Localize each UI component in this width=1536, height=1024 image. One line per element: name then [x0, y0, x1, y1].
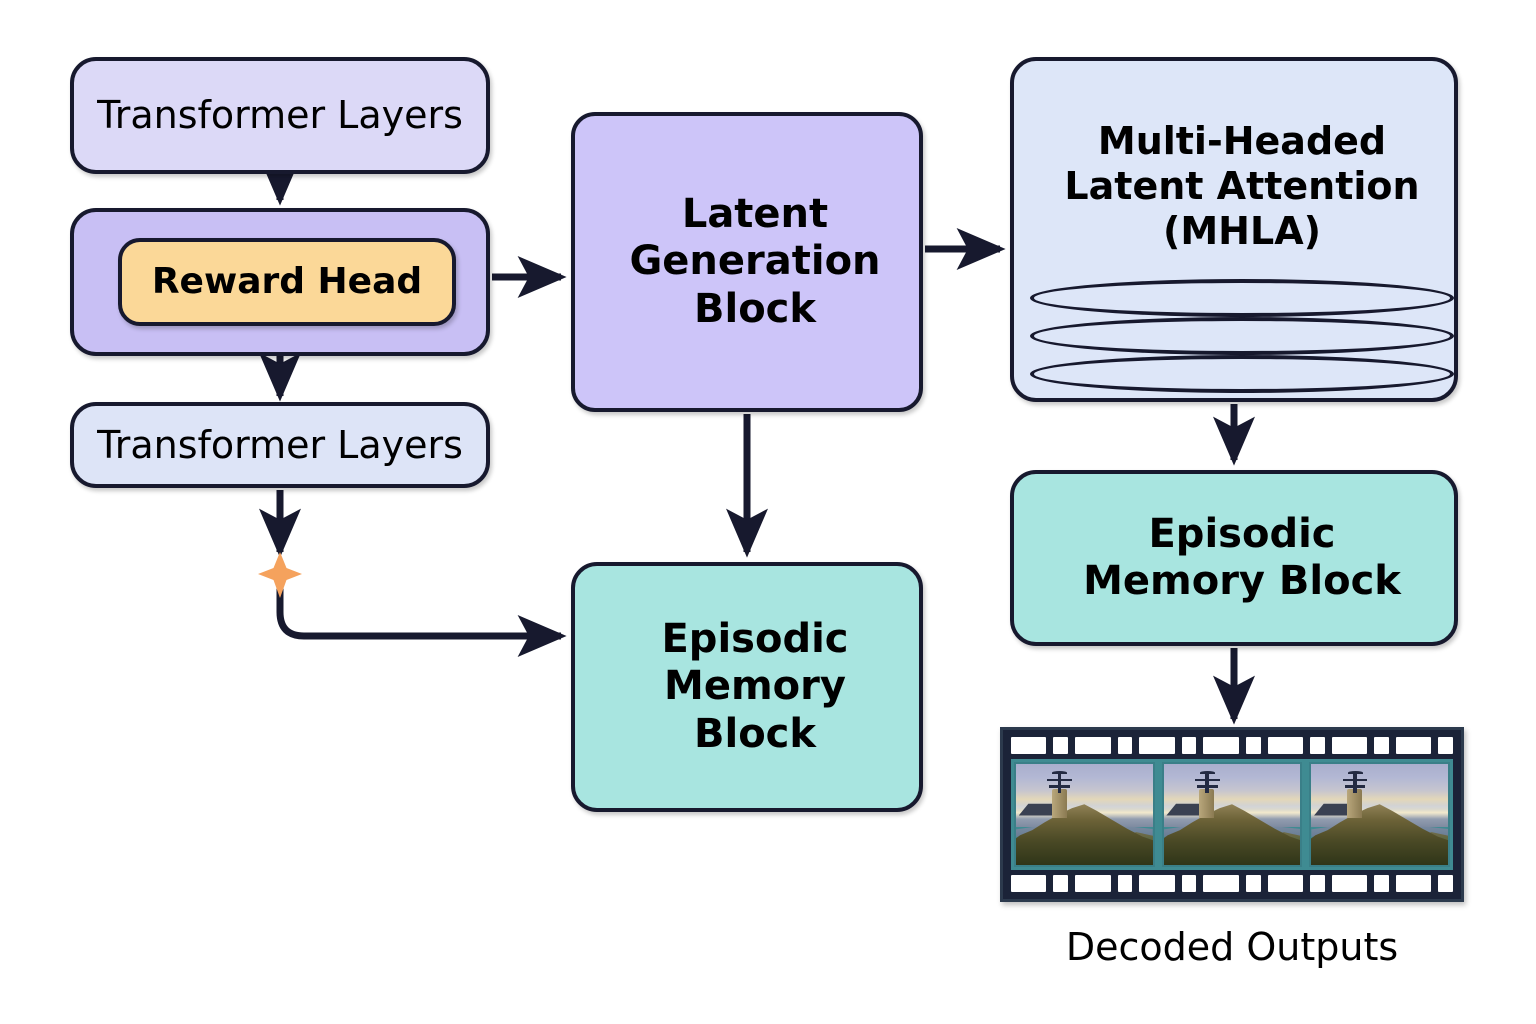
frame-antenna-mast — [1058, 773, 1062, 793]
attention-head-dot-icon — [1030, 355, 1454, 393]
perforation-icon — [1268, 737, 1303, 754]
episodic-right-line-2: Memory Block — [1022, 558, 1462, 605]
perforation-icon — [1396, 737, 1431, 754]
edge-sparkle-to-episodic-left — [280, 586, 561, 636]
perforation-icon — [1182, 875, 1197, 892]
block-latent-generation-text: Latent Generation Block — [575, 191, 919, 333]
episodic-left-line-2: Memory — [583, 663, 927, 710]
block-transformer-layers-top-label: Transformer Layers — [74, 93, 486, 138]
latent-generation-line-2: Generation — [583, 238, 927, 285]
perforation-icon — [1075, 737, 1110, 754]
frame-antenna-mast — [1205, 773, 1209, 793]
episodic-left-line-1: Episodic — [583, 616, 927, 663]
sparkle-icon — [258, 552, 302, 598]
perforation-icon — [1139, 875, 1174, 892]
perforation-icon — [1332, 875, 1367, 892]
frame-antenna-crossbar — [1195, 779, 1220, 782]
block-episodic-memory-left-text: Episodic Memory Block — [575, 616, 919, 758]
block-multi-headed-latent-attention[interactable]: Multi-Headed Latent Attention (MHLA) — [1010, 57, 1458, 402]
perforation-icon — [1268, 875, 1303, 892]
block-latent-generation[interactable]: Latent Generation Block — [571, 112, 923, 412]
latent-generation-line-1: Latent — [583, 191, 927, 238]
perforation-icon — [1374, 875, 1389, 892]
frame-tower — [1052, 789, 1067, 817]
perforation-icon — [1374, 737, 1389, 754]
frame-antenna-cap — [1200, 771, 1215, 774]
block-episodic-memory-right[interactable]: Episodic Memory Block — [1010, 470, 1458, 646]
frame-antenna-crossbar — [1047, 779, 1072, 782]
frame-antenna-cap — [1348, 771, 1363, 774]
perforation-icon — [1396, 875, 1431, 892]
decoded-frame[interactable] — [1014, 762, 1155, 867]
attention-head-dot-icon — [1030, 317, 1454, 355]
perforation-icon — [1053, 875, 1068, 892]
frame-antenna-crossbar — [1345, 785, 1366, 788]
block-episodic-memory-right-text: Episodic Memory Block — [1014, 511, 1454, 605]
perforation-icon — [1118, 875, 1133, 892]
filmstrip-decoded-outputs[interactable] — [1000, 727, 1464, 902]
block-transformer-layers-bottom-label: Transformer Layers — [74, 423, 486, 468]
frame-antenna-crossbar — [1343, 779, 1368, 782]
filmstrip-frames — [1011, 759, 1453, 870]
mhla-line-3: (MHLA) — [1022, 209, 1462, 254]
perforation-icon — [1139, 737, 1174, 754]
perforation-icon — [1182, 737, 1197, 754]
perforation-icon — [1310, 875, 1325, 892]
episodic-right-line-1: Episodic — [1022, 511, 1462, 558]
frame-tower — [1347, 789, 1362, 817]
perforation-icon — [1438, 875, 1453, 892]
mhla-line-1: Multi-Headed — [1022, 119, 1462, 164]
filmstrip-caption: Decoded Outputs — [1000, 925, 1464, 969]
perforation-icon — [1203, 737, 1238, 754]
block-mhla-text: Multi-Headed Latent Attention (MHLA) — [1014, 119, 1454, 393]
episodic-left-line-3: Block — [583, 711, 927, 758]
perforation-icon — [1246, 737, 1261, 754]
frame-antenna-mast — [1353, 773, 1357, 793]
block-episodic-memory-left[interactable]: Episodic Memory Block — [571, 562, 923, 812]
attention-head-dots — [1022, 279, 1462, 393]
perforation-icon — [1246, 875, 1261, 892]
block-transformer-layers-top[interactable]: Transformer Layers — [70, 57, 490, 174]
perforation-icon — [1011, 737, 1046, 754]
attention-head-dot-icon — [1030, 279, 1454, 317]
perforation-icon — [1438, 737, 1453, 754]
mhla-line-2: Latent Attention — [1022, 164, 1462, 209]
frame-antenna-crossbar — [1197, 785, 1218, 788]
decoded-frame[interactable] — [1309, 762, 1450, 867]
frame-antenna-cap — [1052, 771, 1067, 774]
block-reward-head-label: Reward Head — [122, 261, 452, 303]
filmstrip-perforations-bottom — [1011, 875, 1453, 892]
perforation-icon — [1310, 737, 1325, 754]
perforation-icon — [1011, 875, 1046, 892]
decoded-frame[interactable] — [1162, 762, 1303, 867]
block-reward-head[interactable]: Reward Head — [118, 238, 456, 326]
perforation-icon — [1075, 875, 1110, 892]
block-transformer-layers-bottom[interactable]: Transformer Layers — [70, 402, 490, 488]
diagram-canvas: Transformer Layers Reward Head Transform… — [0, 0, 1536, 1024]
filmstrip-perforations-top — [1011, 737, 1453, 754]
perforation-icon — [1053, 737, 1068, 754]
perforation-icon — [1203, 875, 1238, 892]
frame-antenna-crossbar — [1049, 785, 1070, 788]
latent-generation-line-3: Block — [583, 286, 927, 333]
perforation-icon — [1118, 737, 1133, 754]
frame-tower — [1199, 789, 1214, 817]
perforation-icon — [1332, 737, 1367, 754]
